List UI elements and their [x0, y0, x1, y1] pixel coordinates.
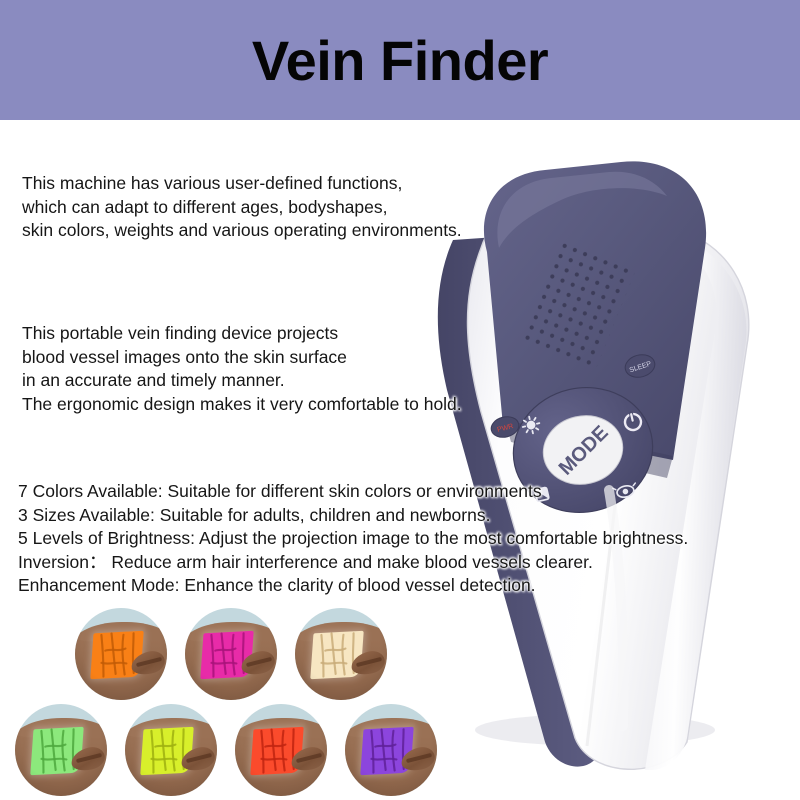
color-swatch-magenta	[185, 608, 277, 700]
feature-list: 7 Colors Available: Suitable for differe…	[18, 480, 688, 598]
feature-item: Inversion： Reduce arm hair interference …	[18, 551, 688, 575]
circle-vignette	[235, 704, 327, 796]
color-swatch-yellow	[125, 704, 217, 796]
feature-item: Enhancement Mode: Enhance the clarity of…	[18, 574, 688, 598]
description-paragraph: This portable vein finding device projec…	[22, 322, 462, 416]
feature-item: 5 Levels of Brightness: Adjust the proje…	[18, 527, 688, 551]
color-swatch-green	[15, 704, 107, 796]
circle-vignette	[345, 704, 437, 796]
circle-vignette	[15, 704, 107, 796]
circle-vignette	[185, 608, 277, 700]
circle-vignette	[295, 608, 387, 700]
color-swatch-white	[295, 608, 387, 700]
circle-vignette	[125, 704, 217, 796]
circle-vignette	[75, 608, 167, 700]
color-swatch-purple	[345, 704, 437, 796]
feature-item: 7 Colors Available: Suitable for differe…	[18, 480, 688, 504]
color-swatch-grid	[0, 600, 470, 800]
intro-paragraph: This machine has various user-defined fu…	[22, 172, 462, 243]
feature-item: 3 Sizes Available: Suitable for adults, …	[18, 504, 688, 528]
color-swatch-red	[235, 704, 327, 796]
header-banner: Vein Finder	[0, 0, 800, 120]
page-title: Vein Finder	[252, 28, 548, 93]
color-swatch-orange	[75, 608, 167, 700]
